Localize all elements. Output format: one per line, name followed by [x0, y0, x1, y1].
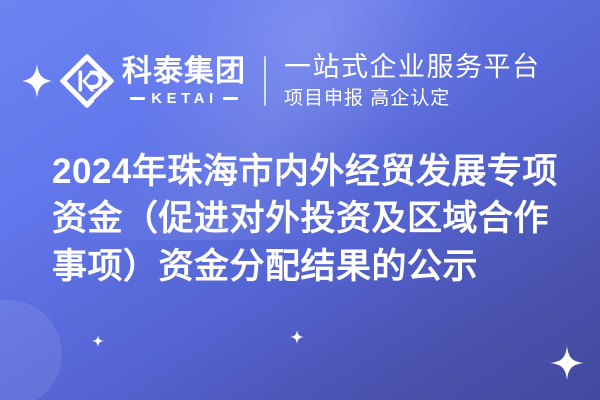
- sparkle-small-left: [92, 335, 104, 347]
- sparkle-small-center: [290, 330, 304, 344]
- tagline-secondary: 项目申报 高企认定: [284, 88, 541, 111]
- brand-wordmark: 科泰集团 KETAI: [122, 56, 246, 106]
- banner-header: 科泰集团 KETAI 一站式企业服务平台 项目申报 高企认定: [22, 40, 541, 122]
- four-point-sparkle-icon: [22, 64, 52, 98]
- brand-name-en-row: KETAI: [122, 91, 246, 106]
- brand-name-en: KETAI: [151, 91, 217, 106]
- page-title: 2024年珠海市内外经贸发展专项资金（促进对外投资及区域合作事项）资金分配结果的…: [52, 148, 572, 290]
- dash-left-icon: [130, 97, 145, 100]
- ketai-diamond-kp-logo: [58, 52, 116, 110]
- promo-banner: 科泰集团 KETAI 一站式企业服务平台 项目申报 高企认定 2024年珠海市内…: [0, 0, 600, 400]
- brand-name-cn: 科泰集团: [122, 56, 246, 88]
- dash-right-icon: [223, 97, 238, 100]
- vertical-divider: [264, 56, 266, 106]
- circle-blob-left: [0, 300, 62, 400]
- tagline-block: 一站式企业服务平台 项目申报 高企认定: [284, 52, 541, 111]
- sparkle-large-right: [550, 346, 584, 380]
- tagline-primary: 一站式企业服务平台: [284, 52, 541, 83]
